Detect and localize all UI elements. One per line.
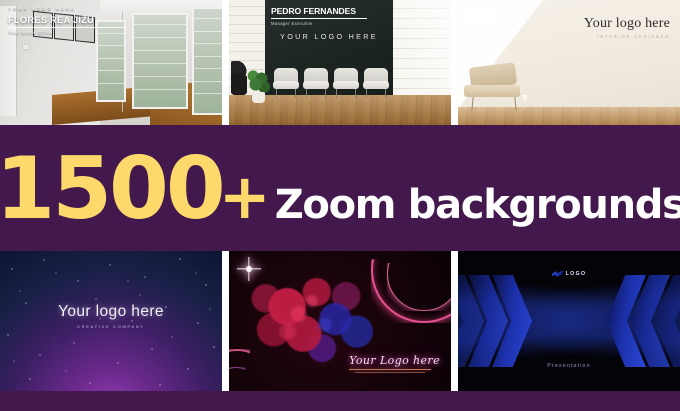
chair [363,68,389,98]
title-text: PEDRO FERNANDES [271,6,391,16]
light-switch [22,44,30,50]
chair [333,68,359,98]
wall-outlet [25,54,37,58]
headline-plus-sign: + [219,171,271,224]
title-text: FLORES REA JIZU [8,14,158,25]
thumbnail-starfield[interactable]: Your logo here CREATIVE COMPANY [0,251,222,391]
chevron-group-right [598,275,680,367]
chair [303,68,329,98]
headline-inner: 1500 + Zoom backgrounds [0,153,680,226]
divider [8,27,126,28]
chair [273,68,299,98]
overlay-text-block: Your Logo here [349,354,440,373]
window-right [389,0,451,108]
overlay-text-block: PEDRO FERNANDES Manager Executive [271,6,391,26]
thumbnail-real-estate-interior[interactable]: YOUR LOGO HERE FLORES REA JIZU Real Esta… [0,0,222,125]
title-text: Your Logo here [349,354,440,367]
thumbnail-neon-floral[interactable]: Your Logo here [229,251,451,391]
chevron-right-icon [492,275,532,367]
overlay-text-block: Your logo here INTERIOR DESIGNER [584,16,670,39]
chair-row [273,68,389,98]
overlay-text-block: Your logo here CREATIVE COMPANY [0,303,222,329]
potted-plant [245,69,271,103]
gutter [451,0,458,125]
title-text: Your logo here [0,303,222,321]
chevron-group-left [458,275,540,367]
thumbnail-dark-wall-office[interactable]: PEDRO FERNANDES Manager Executive YOUR L… [229,0,451,125]
neon-underline-secondary [355,372,425,373]
headline-count: 1500 [0,153,223,226]
headline-label: Zoom backgrounds [275,187,680,223]
divider [271,18,367,19]
logo-text: LOGO [566,271,587,277]
top-thumbnail-row: YOUR LOGO HERE FLORES REA JIZU Real Esta… [0,0,680,125]
bottom-thumbnail-row: Your logo here CREATIVE COMPANY Your Log… [0,251,680,391]
gutter [222,0,229,125]
subtitle-text: Real Estate Office [8,30,158,35]
swoosh-logo-icon [552,270,563,277]
sparkle-icon [237,257,261,281]
headline-banner: 1500 + Zoom backgrounds [0,125,680,251]
thumbnail-blue-chevron[interactable]: LOGO Presentation [458,251,680,391]
neon-arc [229,367,259,391]
logo-placeholder-text: YOUR LOGO HERE [265,32,393,41]
gutter [451,251,458,391]
window-right [192,7,222,115]
subtitle-text: CREATIVE COMPANY [0,325,222,329]
kicker-text: YOUR LOGO HERE [8,6,158,11]
subtitle-text: Manager Executive [271,21,391,26]
armchair [462,65,524,111]
neon-underline [349,369,431,370]
footer-text: Presentation [458,363,680,369]
overlay-text-block: YOUR LOGO HERE FLORES REA JIZU Real Esta… [8,6,158,35]
chevron-left-icon [606,275,646,367]
subtitle-text: INTERIOR DESIGNER [584,35,670,39]
bottom-purple-margin [0,391,680,411]
logo-lockup: LOGO [458,270,680,277]
gutter [222,251,229,391]
title-text: Your logo here [584,16,670,32]
thumbnail-bright-minimal-interior[interactable]: Your logo here INTERIOR DESIGNER [458,0,680,125]
poster-canvas: YOUR LOGO HERE FLORES REA JIZU Real Esta… [0,0,680,411]
floral-highlights [259,277,369,357]
